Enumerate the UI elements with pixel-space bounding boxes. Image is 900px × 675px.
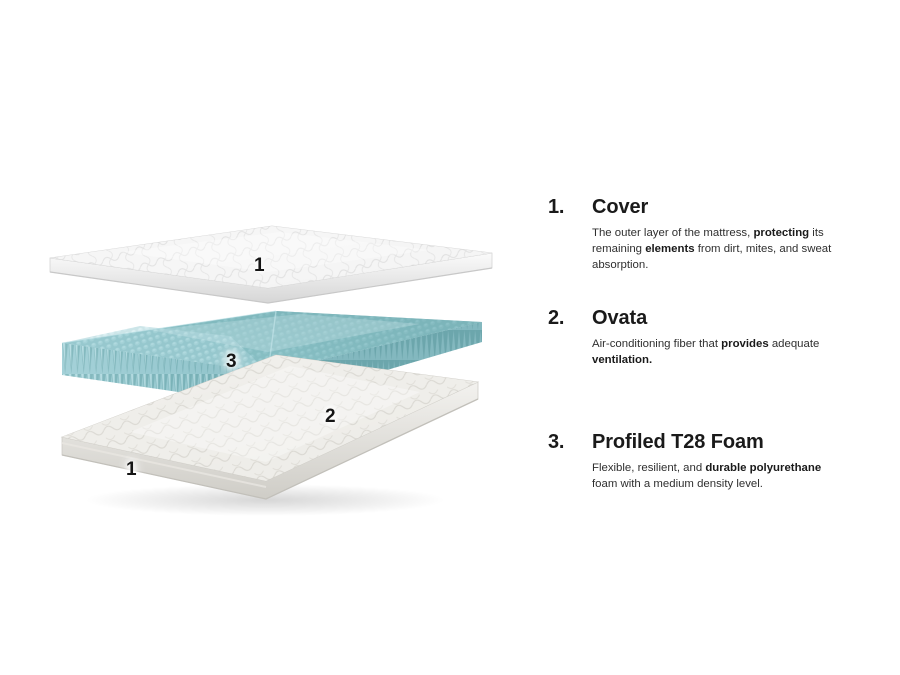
legend-number: 1. xyxy=(548,197,592,218)
layer-cover xyxy=(50,226,492,303)
legend-description: Flexible, resilient, and durable polyure… xyxy=(592,460,844,492)
legend-title: Profiled T28 Foam xyxy=(592,432,878,453)
legend-body: Profiled T28 Foam Flexible, resilient, a… xyxy=(592,432,878,492)
legend-item-ovata: 2. Ovata Air-conditioning fiber that pro… xyxy=(548,308,878,368)
layers-illustration xyxy=(0,0,530,675)
legend-body: Cover The outer layer of the mattress, p… xyxy=(592,197,878,274)
legend-item-cover: 1. Cover The outer layer of the mattress… xyxy=(548,197,878,274)
legend-description: The outer layer of the mattress, protect… xyxy=(592,225,844,274)
legend-number: 2. xyxy=(548,308,592,329)
mattress-layers-diagram: 1 3 2 1 xyxy=(0,0,530,675)
layers-legend: 1. Cover The outer layer of the mattress… xyxy=(548,0,888,675)
legend-item-profiled-t28-foam: 3. Profiled T28 Foam Flexible, resilient… xyxy=(548,432,878,492)
legend-description: Air-conditioning fiber that provides ade… xyxy=(592,336,844,368)
legend-number: 3. xyxy=(548,432,592,453)
legend-title: Cover xyxy=(592,197,878,218)
legend-title: Ovata xyxy=(592,308,878,329)
legend-body: Ovata Air-conditioning fiber that provid… xyxy=(592,308,878,368)
